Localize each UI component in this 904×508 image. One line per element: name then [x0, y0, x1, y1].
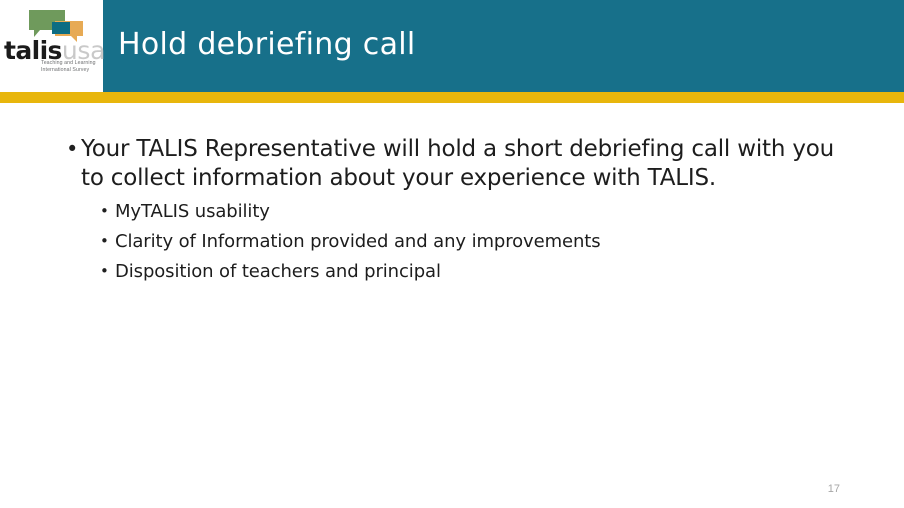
sub-bullet-list: • MyTALIS usability • Clarity of Informa…: [100, 199, 800, 289]
gold-accent-bar: [0, 92, 904, 103]
logo-tagline-line2: International Survey: [41, 67, 101, 74]
logo-wordmark: talisusa: [4, 36, 100, 58]
sub-bullet-text: Disposition of teachers and principal: [115, 259, 800, 284]
bullet-marker: •: [66, 135, 81, 164]
slide-body: • Your TALIS Representative will hold a …: [0, 103, 904, 508]
speech-bubble-teal-icon: [52, 22, 70, 34]
page-number: 17: [828, 483, 840, 495]
bullet-marker: •: [100, 229, 115, 254]
slide: Hold debriefing call talisusa Teaching a…: [0, 0, 904, 508]
logo-tagline-line1: Teaching and Learning: [41, 60, 101, 67]
slide-header: Hold debriefing call talisusa Teaching a…: [0, 0, 904, 92]
sub-bullet-text: MyTALIS usability: [115, 199, 800, 224]
speech-bubbles-icon: [29, 10, 95, 38]
sub-bullet-text: Clarity of Information provided and any …: [115, 229, 800, 254]
list-item: • Clarity of Information provided and an…: [100, 229, 800, 254]
page-title: Hold debriefing call: [118, 25, 818, 65]
main-bullet-text: Your TALIS Representative will hold a sh…: [81, 135, 846, 193]
list-item: • MyTALIS usability: [100, 199, 800, 224]
bullet-marker: •: [100, 199, 115, 224]
bullet-marker: •: [100, 259, 115, 284]
list-item: • Disposition of teachers and principal: [100, 259, 800, 284]
talis-usa-logo: talisusa Teaching and Learning Internati…: [0, 0, 103, 92]
logo-tagline: Teaching and Learning International Surv…: [41, 60, 101, 74]
main-bullet-item: • Your TALIS Representative will hold a …: [66, 135, 846, 193]
